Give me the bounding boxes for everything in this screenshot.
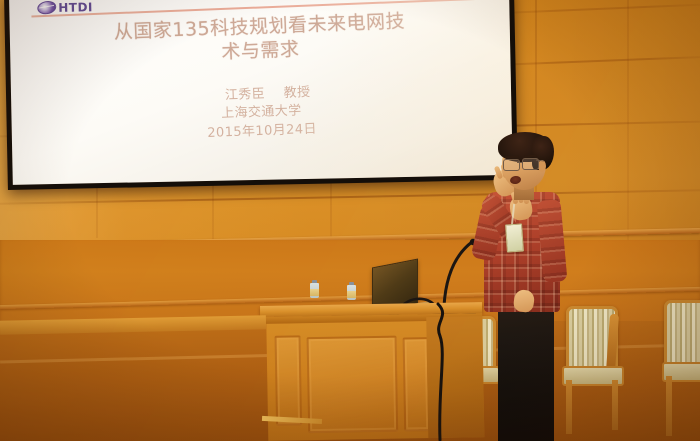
microphone-cable xyxy=(424,300,464,441)
projection-surface: HTDI 从国家135科技规划看未来电网技 术与需求 江秀臣 教授 上海交通大学… xyxy=(9,0,513,185)
slide-subtitle-block: 江秀臣 教授 上海交通大学 2015年10月24日 xyxy=(11,76,513,151)
presenter-name: 江秀臣 xyxy=(225,87,266,104)
presenter-trousers xyxy=(498,304,554,441)
presenter-role: 教授 xyxy=(283,85,310,101)
water-bottle xyxy=(347,282,356,300)
chair-leg xyxy=(666,376,672,436)
audience-chair xyxy=(664,300,700,440)
presentation-slide: HTDI 从国家135科技规划看未来电网技 术与需求 江秀臣 教授 上海交通大学… xyxy=(9,0,513,185)
slide-logo: HTDI xyxy=(37,0,93,14)
slide-title: 从国家135科技规划看未来电网技 术与需求 xyxy=(9,6,510,73)
htdi-globe-icon xyxy=(36,0,57,16)
chair-backrest xyxy=(664,300,700,370)
bottle-body xyxy=(310,283,319,298)
eyeglasses-lens-left xyxy=(503,159,520,171)
photograph-scene: HTDI 从国家135科技规划看未来电网技 术与需求 江秀臣 教授 上海交通大学… xyxy=(0,0,700,441)
projection-screen: HTDI 从国家135科技规划看未来电网技 术与需求 江秀臣 教授 上海交通大学… xyxy=(4,0,518,190)
bottle-label xyxy=(310,289,319,296)
bottle-body xyxy=(347,285,356,300)
water-bottle xyxy=(310,280,319,298)
bottle-label xyxy=(347,291,356,298)
logo-text: HTDI xyxy=(58,1,93,14)
presenter-figure xyxy=(470,130,610,441)
name-badge xyxy=(505,223,524,252)
chair-leg xyxy=(612,380,618,430)
eyeglasses-bridge xyxy=(517,162,523,163)
lectern-panel-inset xyxy=(275,335,303,425)
